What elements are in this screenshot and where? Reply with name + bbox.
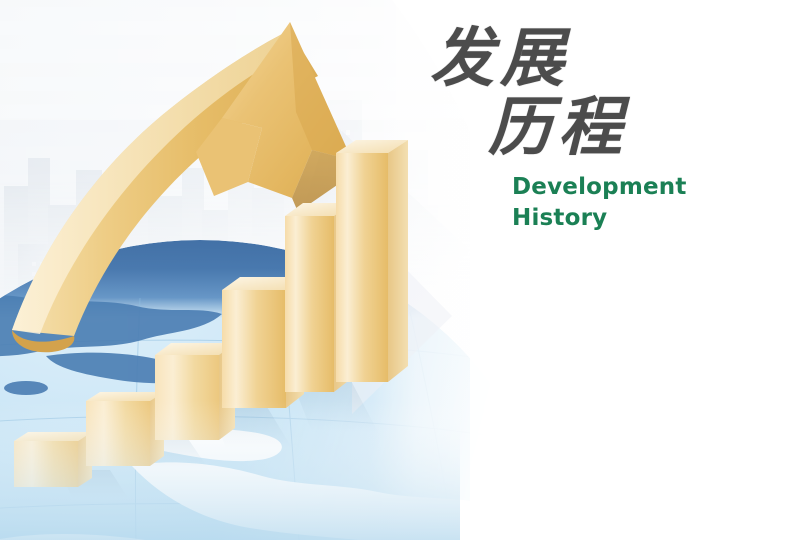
bar-chart	[0, 0, 460, 540]
headline-english-line-1: Development	[512, 172, 760, 202]
development-history-banner: 发展 历程 Development History	[0, 0, 800, 540]
headline-english-line-2: History	[512, 203, 760, 233]
banner-title-block: 发展 历程 Development History	[430, 24, 760, 233]
headline-chinese-line-1: 发展	[430, 24, 760, 93]
headline-english: Development History	[512, 172, 760, 233]
headline-chinese: 发展 历程	[430, 24, 760, 162]
bar-6	[336, 140, 408, 382]
headline-chinese-line-2: 历程	[488, 93, 760, 162]
